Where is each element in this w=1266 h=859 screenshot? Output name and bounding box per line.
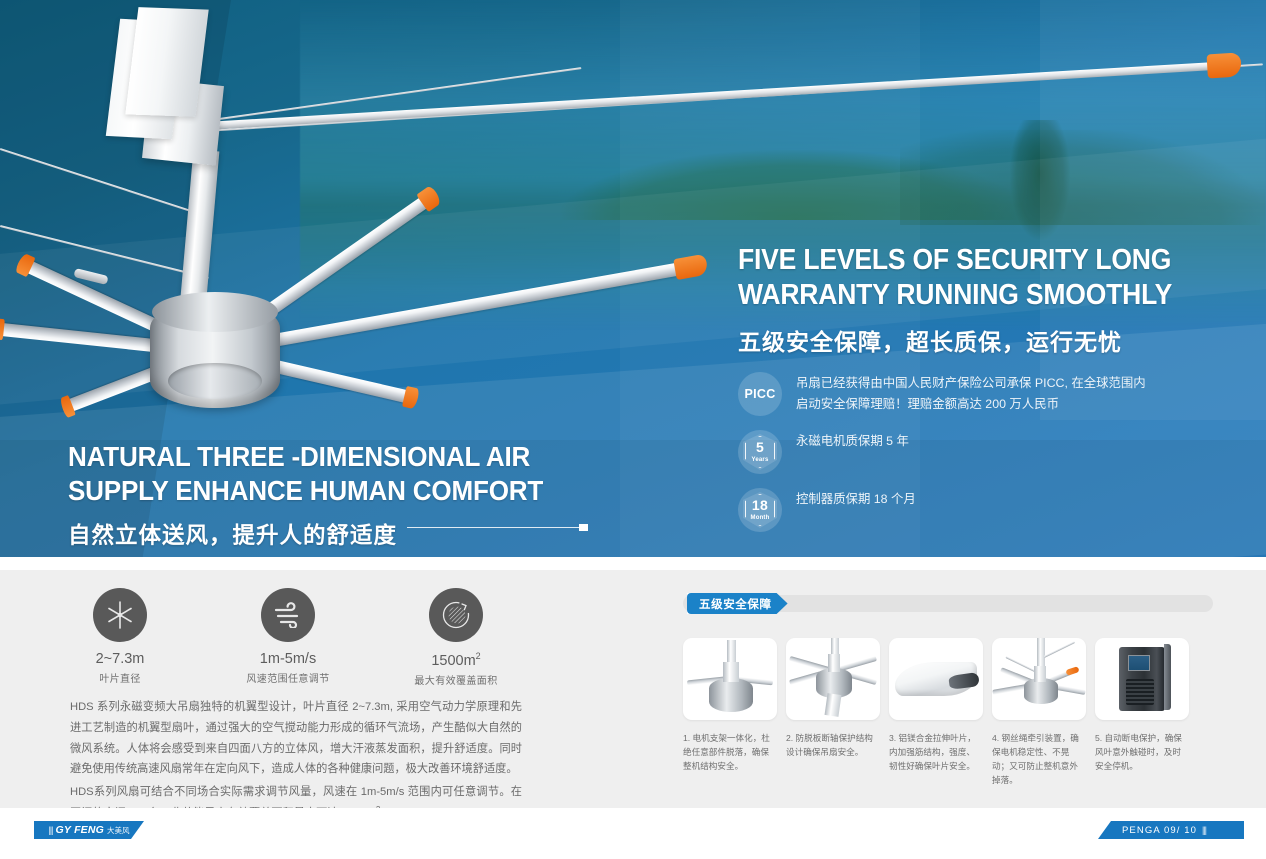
headline-en-line2: SUPPLY ENHANCE HUMAN COMFORT (68, 474, 552, 508)
thumb-alloy-blade[interactable] (889, 638, 983, 720)
safety-thumbnail-row (683, 638, 1213, 720)
mast-part (1037, 638, 1045, 668)
headline-en-line2: WARRANTY RUNNING SMOOTHLY (738, 278, 1203, 313)
shaft-part (723, 662, 739, 682)
tab-five-level-safety[interactable]: 五级安全保障 (687, 593, 788, 614)
headline-cn: 五级安全保障，超长质保，运行无忧 (738, 323, 1238, 357)
shield-icon: 18 Month (743, 492, 777, 528)
blade-tip (59, 395, 76, 418)
thumb-anti-drop-plate[interactable] (786, 638, 880, 720)
safety-caption: 1. 电机支架一体化，杜绝任意部件脱落，确保整机结构安全。 (683, 732, 777, 788)
page-number-tab: PENGA 09/ 10 ||| (1098, 821, 1244, 839)
spec-value-sup: 2 (476, 651, 481, 661)
warranty-list: PICC 吊扇已经获得由中国人民财产保险公司承保 PICC, 在全球范围内启动安… (738, 372, 1158, 546)
page-number: PENGA 09/ 10 (1122, 825, 1197, 836)
blade-tip-part (1065, 666, 1079, 676)
warranty-item-text: 吊扇已经获得由中国人民财产保险公司承保 PICC, 在全球范围内启动安全保障理赔… (796, 372, 1158, 416)
description-text: HDS 系列永磁变频大吊扇独特的机翼型设计，叶片直径 2~7.3m, 采用空气动… (70, 697, 522, 825)
logo-cn-text: 大美风 (107, 825, 130, 836)
blade-tip (673, 254, 708, 280)
warranty-item-text: 控制器质保期 18 个月 (796, 488, 916, 510)
safety-tabbar: 五级安全保障 (683, 593, 1213, 613)
spec-label: 最大有效覆盖面积 (406, 672, 506, 687)
shield-number: 5 (756, 440, 764, 454)
shield-unit: Years (751, 457, 768, 463)
picc-badge-icon: PICC (738, 372, 782, 416)
spec-list: 2~7.3m 叶片直径 1m-5m/s 风速范围任意调节 (70, 588, 506, 687)
headline-cn: 自然立体送风，提升人的舒适度 (68, 518, 397, 550)
spec-value-text: 1500m (431, 653, 475, 669)
hub-part (709, 678, 753, 712)
picc-badge-label: PICC (744, 387, 775, 401)
safety-section: 五级安全保障 (683, 593, 1213, 788)
spec-value: 1m-5m/s (238, 651, 338, 667)
hub-ring (152, 292, 278, 332)
warranty-item: PICC 吊扇已经获得由中国人民财产保险公司承保 PICC, 在全球范围内启动安… (738, 372, 1158, 416)
brand-logo: ||| GY FENG 大美风 (34, 821, 144, 839)
fan-blades-icon (93, 588, 147, 642)
page-footer: ||| GY FENG 大美风 PENGA 09/ 10 ||| (0, 808, 1266, 859)
shield-unit: Month (751, 515, 770, 521)
shield-badge-5-years-icon: 5 Years (738, 430, 782, 474)
logo-feng-text: FENG (74, 824, 104, 836)
controller-body (1119, 647, 1165, 711)
shaft-part (828, 654, 840, 672)
safety-caption: 2. 防脱板断轴保护结构设计确保吊扇安全。 (786, 732, 880, 788)
controller-side-panel (1164, 644, 1171, 710)
headline-rule (407, 527, 588, 528)
hero-right-headline: FIVE LEVELS OF SECURITY LONG WARRANTY RU… (738, 243, 1238, 357)
headline-en-line1: NATURAL THREE -DIMENSIONAL AIR (68, 440, 552, 474)
warranty-item: 18 Month 控制器质保期 18 个月 (738, 488, 1158, 532)
shaft-part (1034, 666, 1046, 682)
shield-icon: 5 Years (743, 434, 777, 470)
warranty-item-text: 永磁电机质保期 5 年 (796, 430, 909, 452)
safety-caption: 4. 钢丝绳牵引装置，确保电机稳定性、不晃动；又可防止整机意外掉落。 (992, 732, 1086, 788)
spec-label: 风速范围任意调节 (238, 670, 338, 685)
logo-bars-icon: ||| (48, 825, 52, 835)
logo-gy-text: GY (55, 824, 71, 836)
brochure-page: FIVE LEVELS OF SECURITY LONG WARRANTY RU… (0, 0, 1266, 859)
page-bars-icon: ||| (1202, 825, 1206, 835)
hero-left-headline: NATURAL THREE -DIMENSIONAL AIR SUPPLY EN… (68, 440, 588, 550)
thumb-controller[interactable] (1095, 638, 1189, 720)
thumb-motor-bracket[interactable] (683, 638, 777, 720)
spec-item: 2~7.3m 叶片直径 (70, 588, 170, 687)
lower-part (825, 693, 842, 717)
safety-caption: 5. 自动断电保护，确保风叶意外触碰时，及时安全停机。 (1095, 732, 1189, 788)
headline-en-line1: FIVE LEVELS OF SECURITY LONG (738, 243, 1203, 278)
blade-tip (0, 318, 5, 340)
controller-vent (1126, 679, 1154, 705)
mount-bracket-plate (125, 7, 208, 117)
wind-speed-icon (261, 588, 315, 642)
blade-tip (416, 185, 443, 212)
thumb-steel-cable[interactable] (992, 638, 1086, 720)
blade-tip (402, 386, 420, 410)
shield-badge-18-month-icon: 18 Month (738, 488, 782, 532)
warranty-item: 5 Years 永磁电机质保期 5 年 (738, 430, 1158, 474)
spec-label: 叶片直径 (70, 670, 170, 685)
controller-screen (1128, 655, 1150, 671)
safety-caption-row: 1. 电机支架一体化，杜绝任意部件脱落，确保整机结构安全。 2. 防脱板断轴保护… (683, 732, 1213, 788)
spec-value: 1500m2 (406, 651, 506, 669)
description-paragraph-1: HDS 系列永磁变频大吊扇独特的机翼型设计，叶片直径 2~7.3m, 采用空气动… (70, 697, 522, 780)
blade-tip (14, 252, 35, 277)
safety-caption: 3. 铝镁合金拉伸叶片，内加强筋结构，强度、韧性好确保叶片安全。 (889, 732, 983, 788)
coverage-area-icon (429, 588, 483, 642)
shield-number: 18 (752, 498, 768, 512)
hero-banner: FIVE LEVELS OF SECURITY LONG WARRANTY RU… (0, 0, 1266, 557)
cable-part (1044, 641, 1075, 657)
spec-value: 2~7.3m (70, 651, 170, 667)
spec-item: 1500m2 最大有效覆盖面积 (406, 588, 506, 687)
spec-item: 1m-5m/s 风速范围任意调节 (238, 588, 338, 687)
